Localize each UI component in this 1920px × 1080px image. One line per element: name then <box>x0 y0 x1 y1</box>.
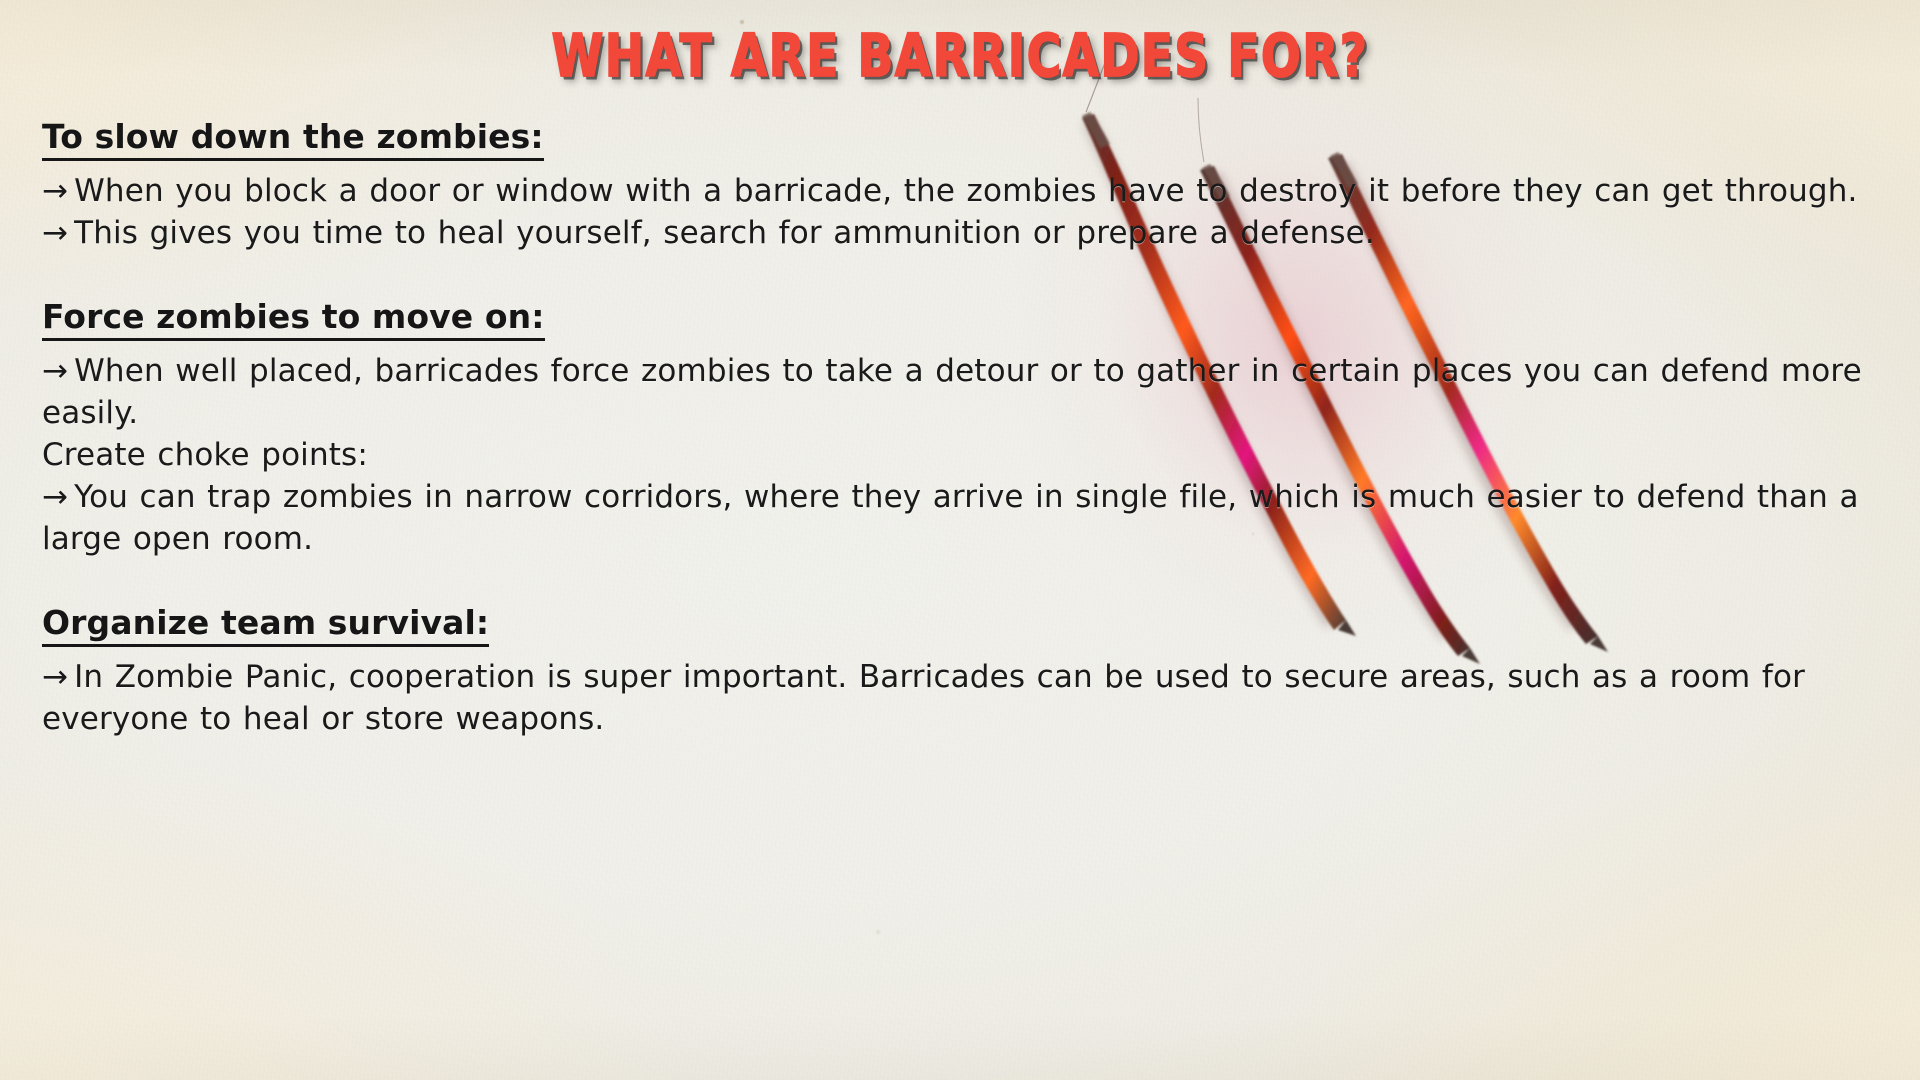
slide-canvas: WHAT ARE BARRICADES FOR? To slow down th… <box>0 0 1920 1080</box>
section-line-text: Create choke points: <box>42 437 368 473</box>
content-body: To slow down the zombies: →When you bloc… <box>42 118 1887 740</box>
section-line: →In Zombie Panic, cooperation is super i… <box>42 656 1887 740</box>
arrow-bullet-icon: → <box>42 173 74 209</box>
arrow-bullet-icon: → <box>42 479 74 515</box>
section-subheading-choke-points: Create choke points: <box>42 434 1887 476</box>
section-line-text: In Zombie Panic, cooperation is super im… <box>42 659 1805 737</box>
arrow-bullet-icon: → <box>42 659 74 695</box>
section-slow-down-zombies: To slow down the zombies: →When you bloc… <box>42 118 1887 254</box>
section-heading: To slow down the zombies: <box>42 118 544 161</box>
section-line: →This gives you time to heal yourself, s… <box>42 212 1887 254</box>
arrow-bullet-icon: → <box>42 215 74 251</box>
section-heading: Organize team survival: <box>42 604 489 647</box>
section-line-text: When well placed, barricades force zombi… <box>42 353 1862 431</box>
arrow-bullet-icon: → <box>42 353 74 389</box>
section-line: →You can trap zombies in narrow corridor… <box>42 476 1887 560</box>
section-line: →When you block a door or window with a … <box>42 170 1887 212</box>
section-heading: Force zombies to move on: <box>42 298 545 341</box>
section-force-zombies-move-on: Force zombies to move on: →When well pla… <box>42 298 1887 560</box>
section-line-text: You can trap zombies in narrow corridors… <box>42 479 1859 557</box>
section-line: →When well placed, barricades force zomb… <box>42 350 1887 434</box>
section-line-text: When you block a door or window with a b… <box>74 173 1857 209</box>
page-title: WHAT ARE BARRICADES FOR? <box>58 22 1863 90</box>
section-line-text: This gives you time to heal yourself, se… <box>74 215 1375 251</box>
section-organize-team-survival: Organize team survival: →In Zombie Panic… <box>42 604 1887 740</box>
